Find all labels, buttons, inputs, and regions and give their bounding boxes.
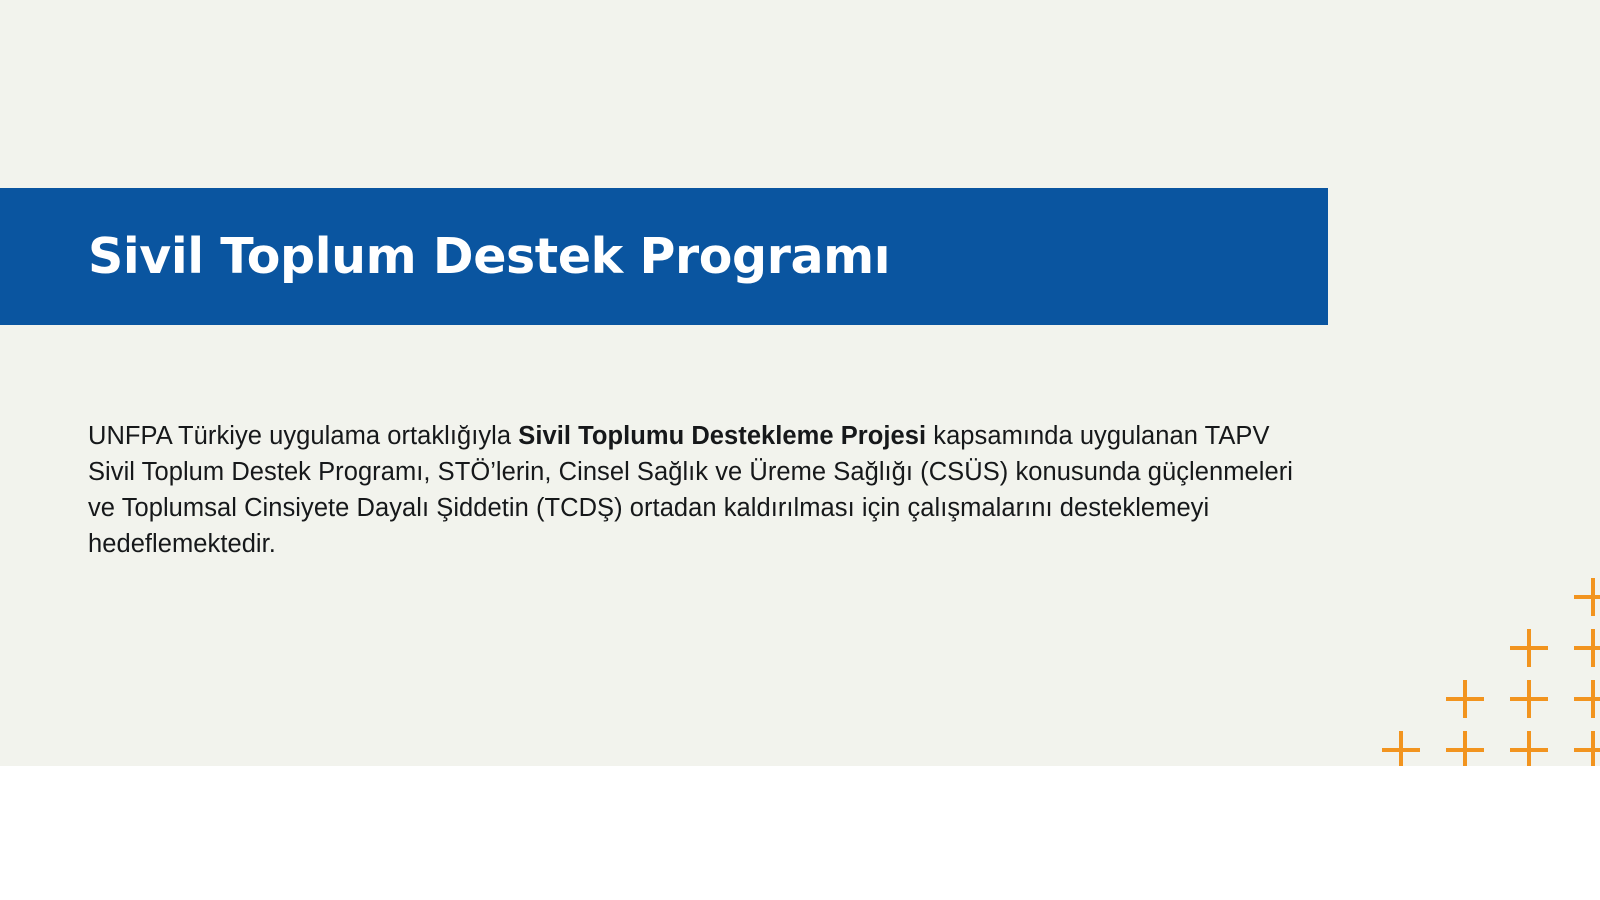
plus-icon xyxy=(1574,731,1600,769)
body-text-lead: UNFPA Türkiye uygulama ortaklığıyla xyxy=(88,422,518,450)
title-banner: Sivil Toplum Destek Programı xyxy=(0,188,1328,325)
body-text-highlight: Sivil Toplumu Destekleme Projesi xyxy=(518,422,926,450)
slide-root: Sivil Toplum Destek Programı UNFPA Türki… xyxy=(0,0,1600,900)
footer-bar: UNFPA TAPV Türkiye Aile Sağlığı ve xyxy=(0,766,1600,900)
body-paragraph: UNFPA Türkiye uygulama ortaklığıyla Sivi… xyxy=(88,418,1303,562)
plus-icon xyxy=(1574,629,1600,667)
plus-icon xyxy=(1382,731,1420,769)
page-title: Sivil Toplum Destek Programı xyxy=(0,231,890,282)
plus-icon xyxy=(1446,680,1484,718)
plus-icon xyxy=(1510,680,1548,718)
plus-icon xyxy=(1446,731,1484,769)
plus-icon xyxy=(1510,629,1548,667)
plus-icon xyxy=(1510,731,1548,769)
plus-icon xyxy=(1574,680,1600,718)
decorative-plus-grid xyxy=(1382,578,1600,773)
plus-icon xyxy=(1574,578,1600,616)
